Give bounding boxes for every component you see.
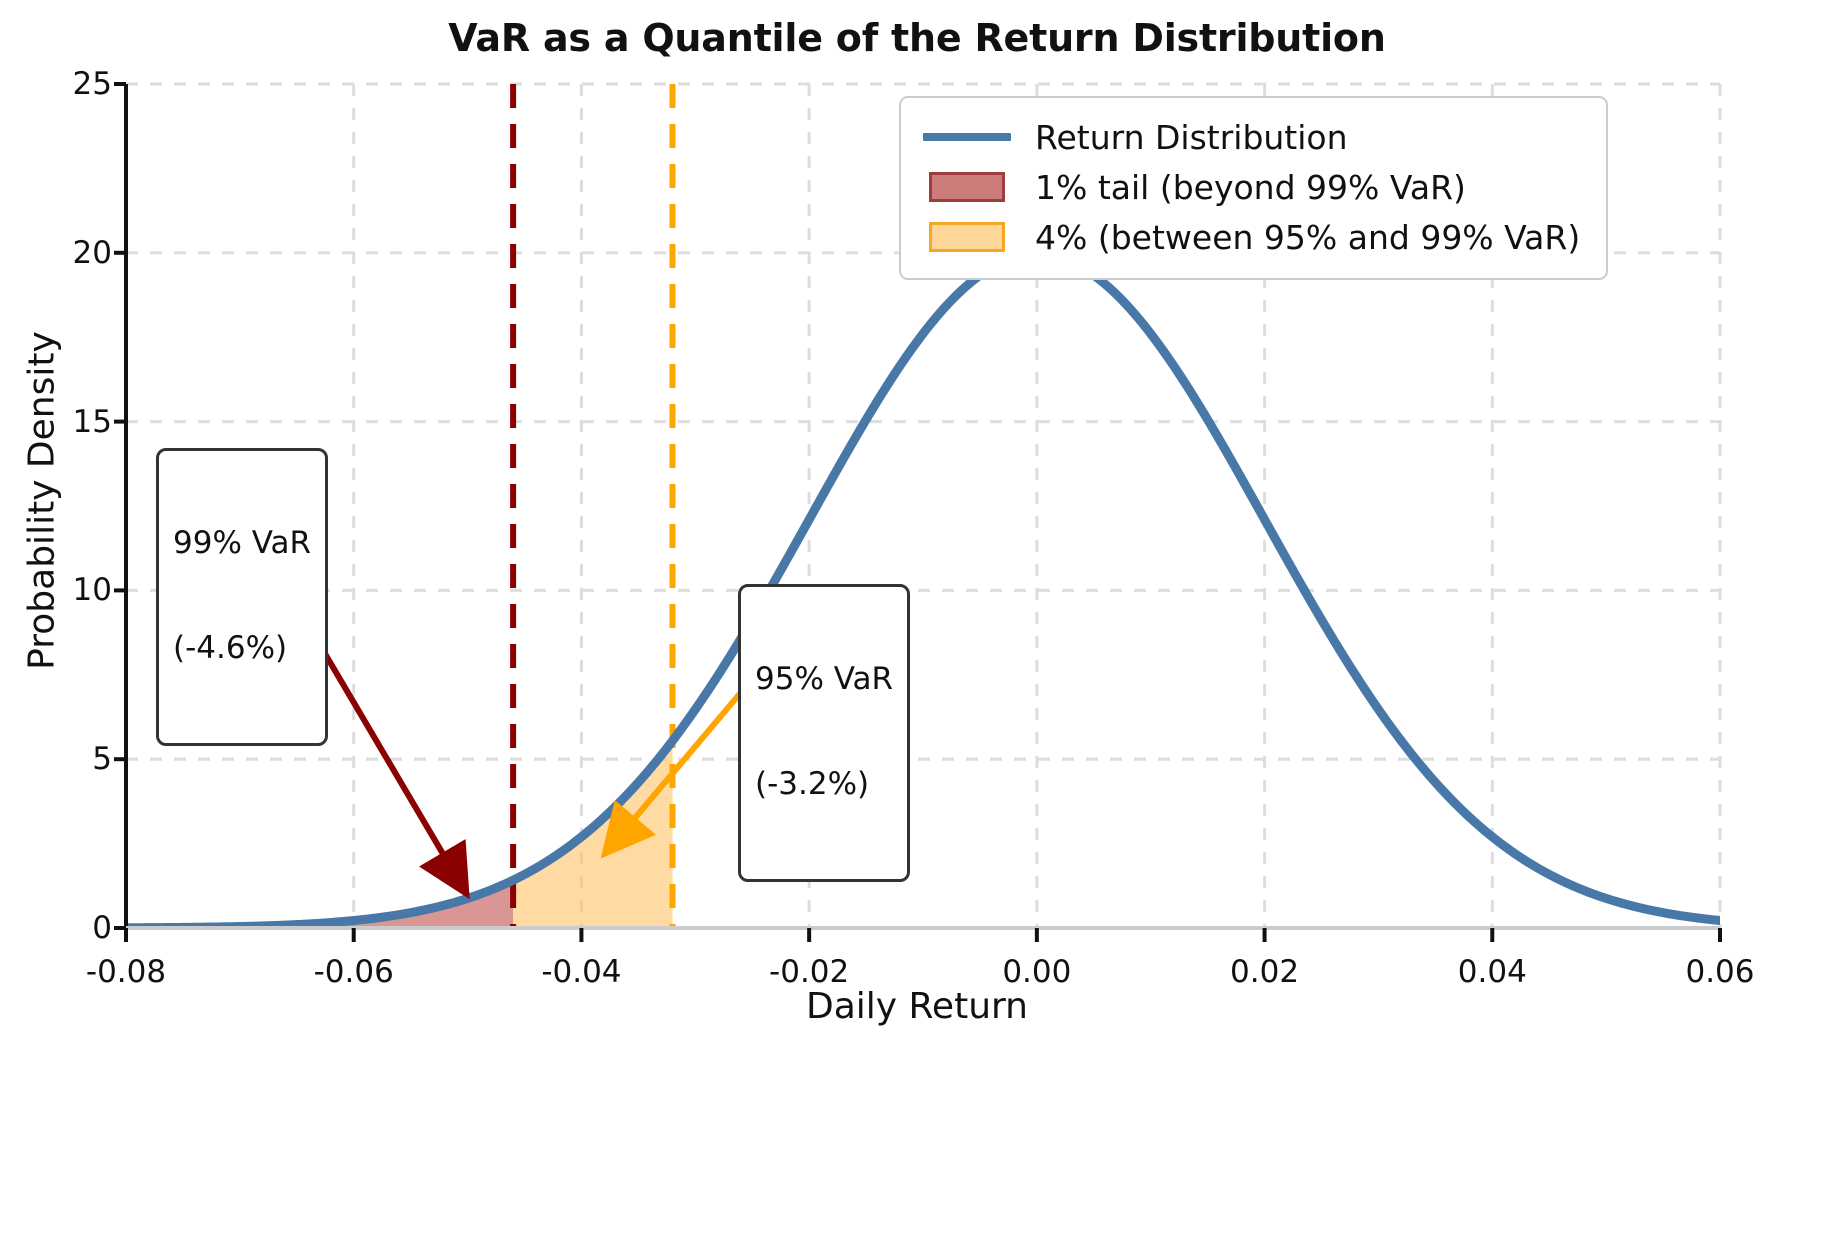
y-axis-label: Probability Density (22, 221, 63, 781)
y-tick-label: 25 (18, 66, 112, 102)
x-tick-label: -0.02 (729, 954, 889, 990)
legend-label-band-95-99: 4% (between 95% and 99% VaR) (1035, 218, 1580, 257)
x-tick-label: -0.08 (46, 954, 206, 990)
annotation-99-var-line2: (-4.6%) (173, 631, 311, 666)
x-tick-label: 0.06 (1640, 954, 1800, 990)
legend-item-tail-99[interactable]: 1% tail (beyond 99% VaR) (923, 162, 1580, 212)
chart-legend[interactable]: Return Distribution 1% tail (beyond 99% … (899, 96, 1608, 280)
x-tick-label: 0.00 (957, 954, 1117, 990)
legend-key-patch-red-icon (923, 172, 1011, 202)
y-tick-label: 0 (18, 910, 112, 946)
legend-item-return-distribution[interactable]: Return Distribution (923, 112, 1580, 162)
annotation-95-var-line1: 95% VaR (755, 662, 893, 697)
x-tick-label: -0.04 (501, 954, 661, 990)
x-tick-label: 0.02 (1185, 954, 1345, 990)
x-tick-label: -0.06 (274, 954, 434, 990)
legend-label-tail-99: 1% tail (beyond 99% VaR) (1035, 168, 1466, 207)
annotation-99-var-line1: 99% VaR (173, 526, 311, 561)
x-tick-label: 0.04 (1412, 954, 1572, 990)
legend-item-band-95-99[interactable]: 4% (between 95% and 99% VaR) (923, 212, 1580, 262)
annotation-95-var-line2: (-3.2%) (755, 767, 893, 802)
x-axis-label: Daily Return (0, 986, 1834, 1027)
annotation-99-var: 99% VaR (-4.6%) (156, 448, 328, 746)
legend-key-patch-orange-icon (923, 222, 1011, 252)
legend-key-line-icon (923, 122, 1011, 152)
chart-figure: VaR as a Quantile of the Return Distribu… (0, 0, 1834, 1234)
annotation-95-var: 95% VaR (-3.2%) (738, 584, 910, 882)
legend-label-return-distribution: Return Distribution (1035, 118, 1348, 157)
